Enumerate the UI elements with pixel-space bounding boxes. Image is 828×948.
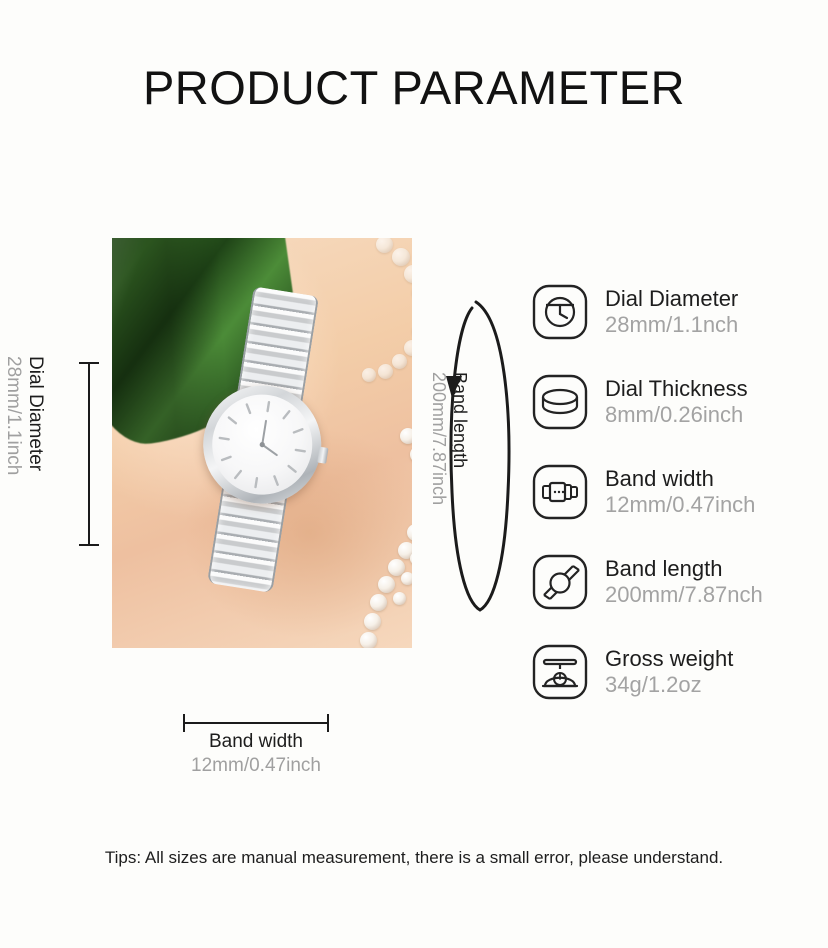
pearl-bead bbox=[370, 594, 387, 611]
spec-value-dial-diameter: 28mm/1.1nch bbox=[605, 312, 738, 338]
kitchen-scale-icon bbox=[531, 643, 589, 701]
spec-text-gross-weight: Gross weight 34g/1.2oz bbox=[605, 646, 733, 697]
pearl-bead bbox=[362, 368, 376, 382]
page-title: PRODUCT PARAMETER bbox=[0, 60, 828, 115]
disc-thickness-icon bbox=[531, 373, 589, 431]
spec-label-dial-diameter: Dial Diameter bbox=[605, 286, 738, 312]
spec-row-band-width: Band width 12mm/0.47inch bbox=[531, 447, 821, 537]
band-width-measure-title: Band width bbox=[150, 730, 362, 754]
spec-label-dial-thickness: Dial Thickness bbox=[605, 376, 748, 402]
pearl-bead bbox=[407, 524, 412, 541]
watch-dial-icon bbox=[531, 283, 589, 341]
dial-diameter-measure-line bbox=[88, 362, 90, 546]
pearl-bead bbox=[410, 446, 412, 463]
spec-value-dial-thickness: 8mm/0.26inch bbox=[605, 402, 748, 428]
band-length-measure-title: Band length bbox=[449, 372, 470, 505]
pearl-bead bbox=[378, 364, 393, 379]
spec-label-gross-weight: Gross weight bbox=[605, 646, 733, 672]
tips-note: Tips: All sizes are manual measurement, … bbox=[0, 848, 828, 868]
band-width-measure-label: Band width 12mm/0.47inch bbox=[150, 730, 362, 778]
pearl-bead bbox=[404, 340, 412, 356]
pearl-bead bbox=[393, 592, 406, 605]
pearl-bead bbox=[376, 238, 393, 253]
spec-text-band-width: Band width 12mm/0.47inch bbox=[605, 466, 755, 517]
pearl-bead bbox=[364, 613, 381, 630]
pearl-bead bbox=[392, 354, 407, 369]
pearl-bead bbox=[404, 265, 412, 283]
pearl-bead bbox=[401, 572, 412, 585]
watch-case bbox=[195, 377, 330, 512]
spec-label-band-width: Band width bbox=[605, 466, 755, 492]
pearl-bead bbox=[392, 248, 410, 266]
spec-value-band-length: 200mm/7.87nch bbox=[605, 582, 763, 608]
product-photo bbox=[112, 238, 412, 648]
spec-text-dial-diameter: Dial Diameter 28mm/1.1nch bbox=[605, 286, 738, 337]
dial-diameter-measure-title: Dial Diameter bbox=[24, 356, 46, 475]
dial-diameter-measure-label: Dial Diameter 28mm/1.1inch bbox=[1, 356, 46, 475]
spec-value-gross-weight: 34g/1.2oz bbox=[605, 672, 733, 698]
pearl-bead bbox=[400, 428, 412, 444]
band-length-measure-label: Band length 200mm/7.87inch bbox=[428, 372, 470, 505]
band-length-measure-value: 200mm/7.87inch bbox=[428, 372, 449, 505]
watch-dial bbox=[205, 387, 319, 501]
spec-list: Dial Diameter 28mm/1.1nch Dial Thickness… bbox=[531, 267, 821, 717]
spec-row-band-length: Band length 200mm/7.87nch bbox=[531, 537, 821, 627]
spec-row-dial-diameter: Dial Diameter 28mm/1.1nch bbox=[531, 267, 821, 357]
spec-row-gross-weight: Gross weight 34g/1.2oz bbox=[531, 627, 821, 717]
spec-row-dial-thickness: Dial Thickness 8mm/0.26inch bbox=[531, 357, 821, 447]
watch-strap-icon bbox=[531, 553, 589, 611]
spec-text-dial-thickness: Dial Thickness 8mm/0.26inch bbox=[605, 376, 748, 427]
pearl-bead bbox=[410, 552, 412, 565]
band-width-measure-line bbox=[183, 722, 329, 724]
band-width-measure-value: 12mm/0.47inch bbox=[150, 754, 362, 778]
spec-label-band-length: Band length bbox=[605, 556, 763, 582]
buckle-clasp-icon bbox=[531, 463, 589, 521]
spec-text-band-length: Band length 200mm/7.87nch bbox=[605, 556, 763, 607]
dial-markers-icon bbox=[205, 387, 319, 501]
spec-value-band-width: 12mm/0.47inch bbox=[605, 492, 755, 518]
pearl-bead bbox=[360, 632, 377, 648]
product-parameter-page: PRODUCT PARAMETER bbox=[0, 0, 828, 948]
pearl-bead bbox=[378, 576, 395, 593]
dial-diameter-measure-value: 28mm/1.1inch bbox=[1, 356, 23, 475]
